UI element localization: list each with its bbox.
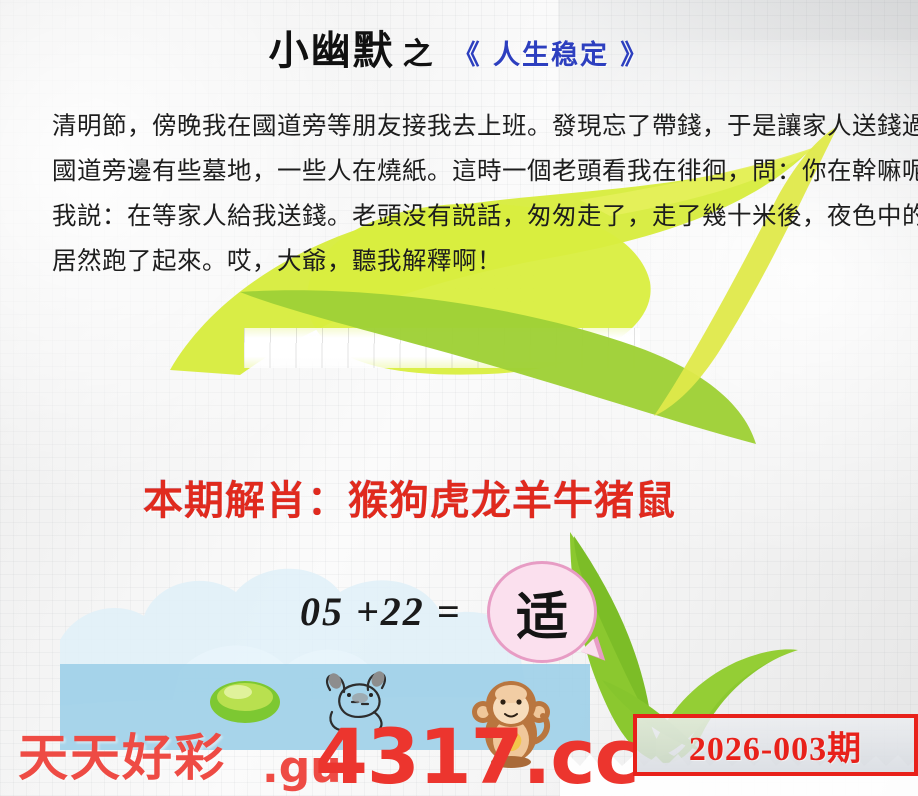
story-line: 國道旁邊有些墓地，一些人在燒紙。這時一個老頭看我在徘徊，問：你在幹嘛呢？ — [52, 149, 914, 194]
page-title: 小幽默 之 《 人生稳定 》 — [0, 18, 918, 76]
number-equation: 05 +22 = — [300, 588, 462, 635]
title-subtitle-text: 《 人生稳定 》 — [453, 40, 650, 71]
watermark-big-domain: 4317.cc — [315, 712, 639, 796]
erased-watermark-band — [244, 328, 640, 368]
story-line: 我説：在等家人給我送錢。老頭没有説話，匆匆走了，走了幾十米後，夜色中的大爺 — [52, 194, 914, 239]
issue-number-text: 2026-003期 — [689, 721, 862, 770]
answer-character: 适 — [487, 561, 597, 663]
title-connector-text: 之 — [403, 37, 433, 72]
zodiac-headline: 本期解肖：猴狗虎龙羊牛猪鼠 — [143, 468, 676, 526]
issue-number-box: 2026-003期 — [633, 714, 918, 776]
poster-canvas: 小幽默 之 《 人生稳定 》 清明節，傍晚我在國道旁等朋友接我去上班。發現忘了帶… — [0, 0, 918, 796]
story-line: 居然跑了起來。哎，大爺，聽我解釋啊！ — [52, 239, 914, 284]
erased-watermark-streaks — [244, 328, 640, 368]
watermark-brand: 天天好彩 — [18, 718, 226, 790]
story-body: 清明節，傍晚我在國道旁等朋友接我去上班。發現忘了帶錢，于是讓家人送錢過來。 國道… — [52, 104, 914, 284]
title-main-text: 小幽默 — [269, 28, 395, 74]
story-line: 清明節，傍晚我在國道旁等朋友接我去上班。發現忘了帶錢，于是讓家人送錢過來。 — [52, 104, 914, 149]
